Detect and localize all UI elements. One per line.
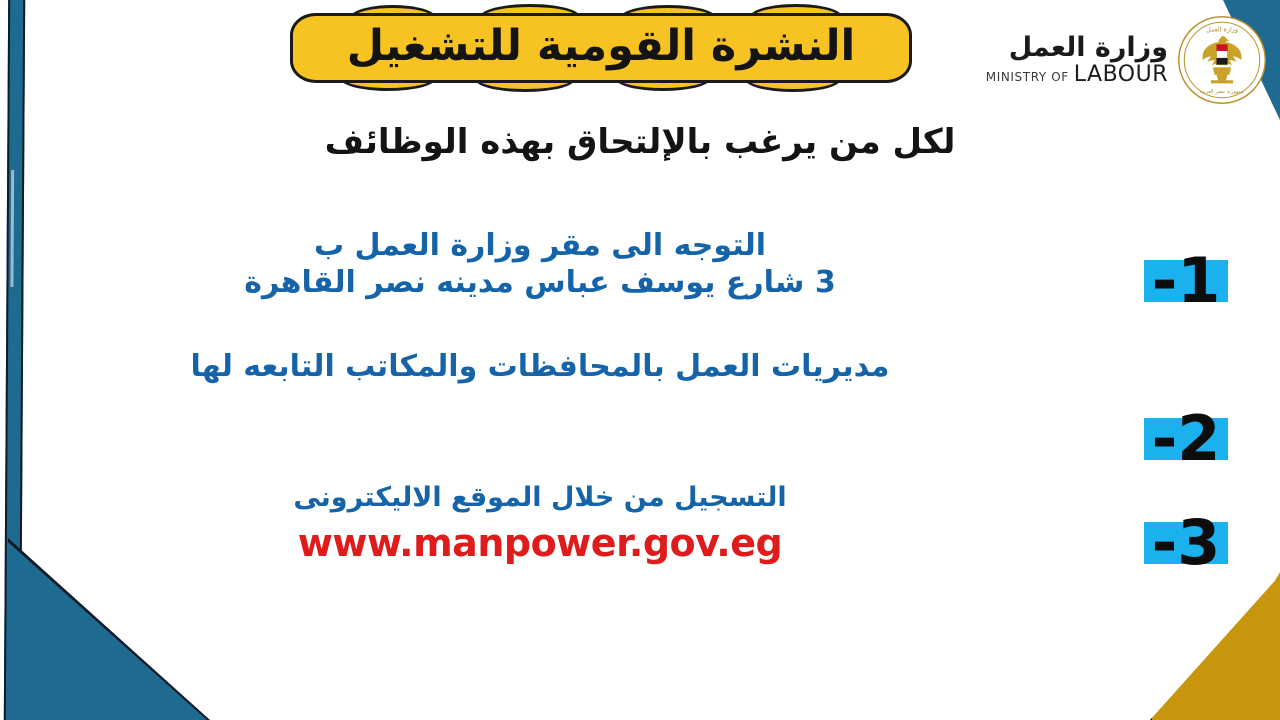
marker-1-number: -1: [1152, 250, 1221, 312]
ministry-logo: وزارة العمل MINISTRY OF LABOUR وزارة الع…: [986, 14, 1268, 106]
step-marker-2: -2: [1138, 408, 1234, 470]
step-3-text: التسجيل من خلال الموقع الاليكترونى: [120, 482, 960, 515]
step-1-line-2: 3 شارع يوسف عباس مدينه نصر القاهرة: [120, 265, 960, 302]
title-banner-body: النشرة القومية للتشغيل: [290, 13, 912, 83]
bottom-right-gold-wedge-decoration: [1150, 572, 1280, 720]
ministry-name-arabic: وزارة العمل: [1009, 34, 1168, 61]
step-marker-3: -3: [1138, 512, 1234, 574]
ministry-name-latin: MINISTRY OF LABOUR: [986, 64, 1168, 86]
step-marker-1: -1: [1138, 250, 1234, 312]
subtitle-text: لكل من يرغب بالإلتحاق بهذه الوظائف: [0, 122, 1280, 163]
step-2-line-1: مديريات العمل بالمحافظات والمكاتب التابع…: [120, 349, 960, 386]
steps-list: التوجه الى مقر وزارة العمل ب 3 شارع يوسف…: [120, 228, 960, 565]
step-1-line-1: التوجه الى مقر وزارة العمل ب: [120, 228, 960, 265]
marker-2-number: -2: [1152, 408, 1221, 470]
svg-text:وزارة العمل: وزارة العمل: [1206, 25, 1238, 33]
page-title: النشرة القومية للتشغيل: [347, 25, 856, 72]
poster-canvas: النشرة القومية للتشغيل وزارة العمل MINIS…: [0, 0, 1280, 720]
svg-text:جمهورية مصر العربية: جمهورية مصر العربية: [1200, 89, 1244, 95]
egypt-eagle-of-saladin-emblem-icon: وزارة العمل جمهورية مصر العربية: [1176, 14, 1268, 106]
ministry-latin-prefix: MINISTRY OF: [986, 71, 1069, 83]
step-1-text: التوجه الى مقر وزارة العمل ب 3 شارع يوسف…: [120, 228, 960, 301]
step-2-text: مديريات العمل بالمحافظات والمكاتب التابع…: [120, 349, 960, 386]
title-banner: النشرة القومية للتشغيل: [290, 13, 912, 83]
ministry-latin-name: LABOUR: [1074, 64, 1168, 86]
website-url-link[interactable]: www.manpower.gov.eg: [120, 521, 960, 565]
step-3-line-1: التسجيل من خلال الموقع الاليكترونى: [120, 482, 960, 515]
ministry-wordmark: وزارة العمل MINISTRY OF LABOUR: [986, 34, 1168, 86]
marker-3-number: -3: [1152, 512, 1221, 574]
